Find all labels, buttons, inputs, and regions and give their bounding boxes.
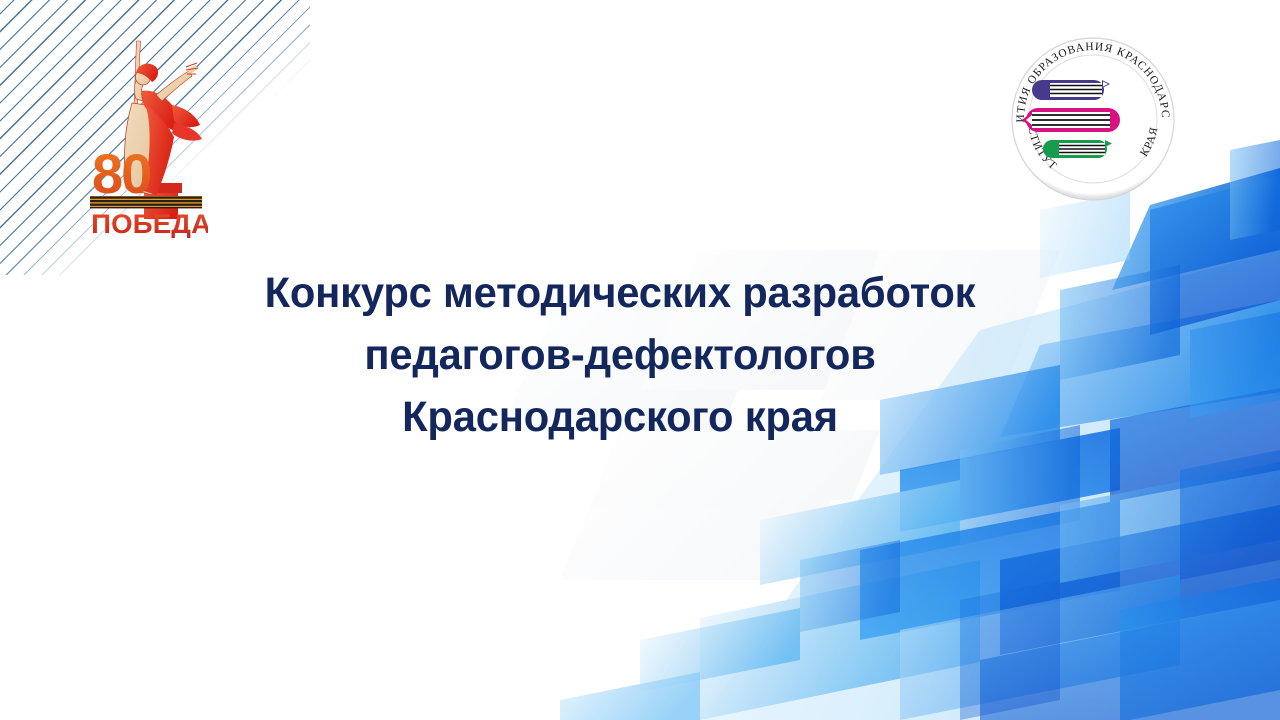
victory-80-logo: 80 ПОБЕДА!	[86, 33, 208, 238]
victory-number: 80	[92, 142, 150, 205]
book-magenta-icon	[1022, 108, 1120, 132]
victory-caption: ПОБЕДА!	[91, 208, 208, 238]
title-line-2: педагогов-дефектологов	[164, 324, 1076, 386]
iro-krasnodar-emblem: РАЗВИТИЯ ОБРАЗОВАНИЯ КРАСНОДАРСКОГО ИНСТ…	[1002, 28, 1184, 210]
book-green-icon	[1043, 140, 1112, 158]
page-title: Конкурс методических разработок педагого…	[150, 262, 1090, 448]
slide-canvas: 80 ПОБЕДА! РАЗВИТИЯ О	[0, 0, 1280, 720]
st-george-ribbon	[90, 196, 202, 208]
title-line-1: Конкурс методических разработок	[164, 262, 1076, 324]
book-purple-icon	[1032, 80, 1110, 100]
title-line-3: Краснодарского края	[164, 386, 1076, 448]
